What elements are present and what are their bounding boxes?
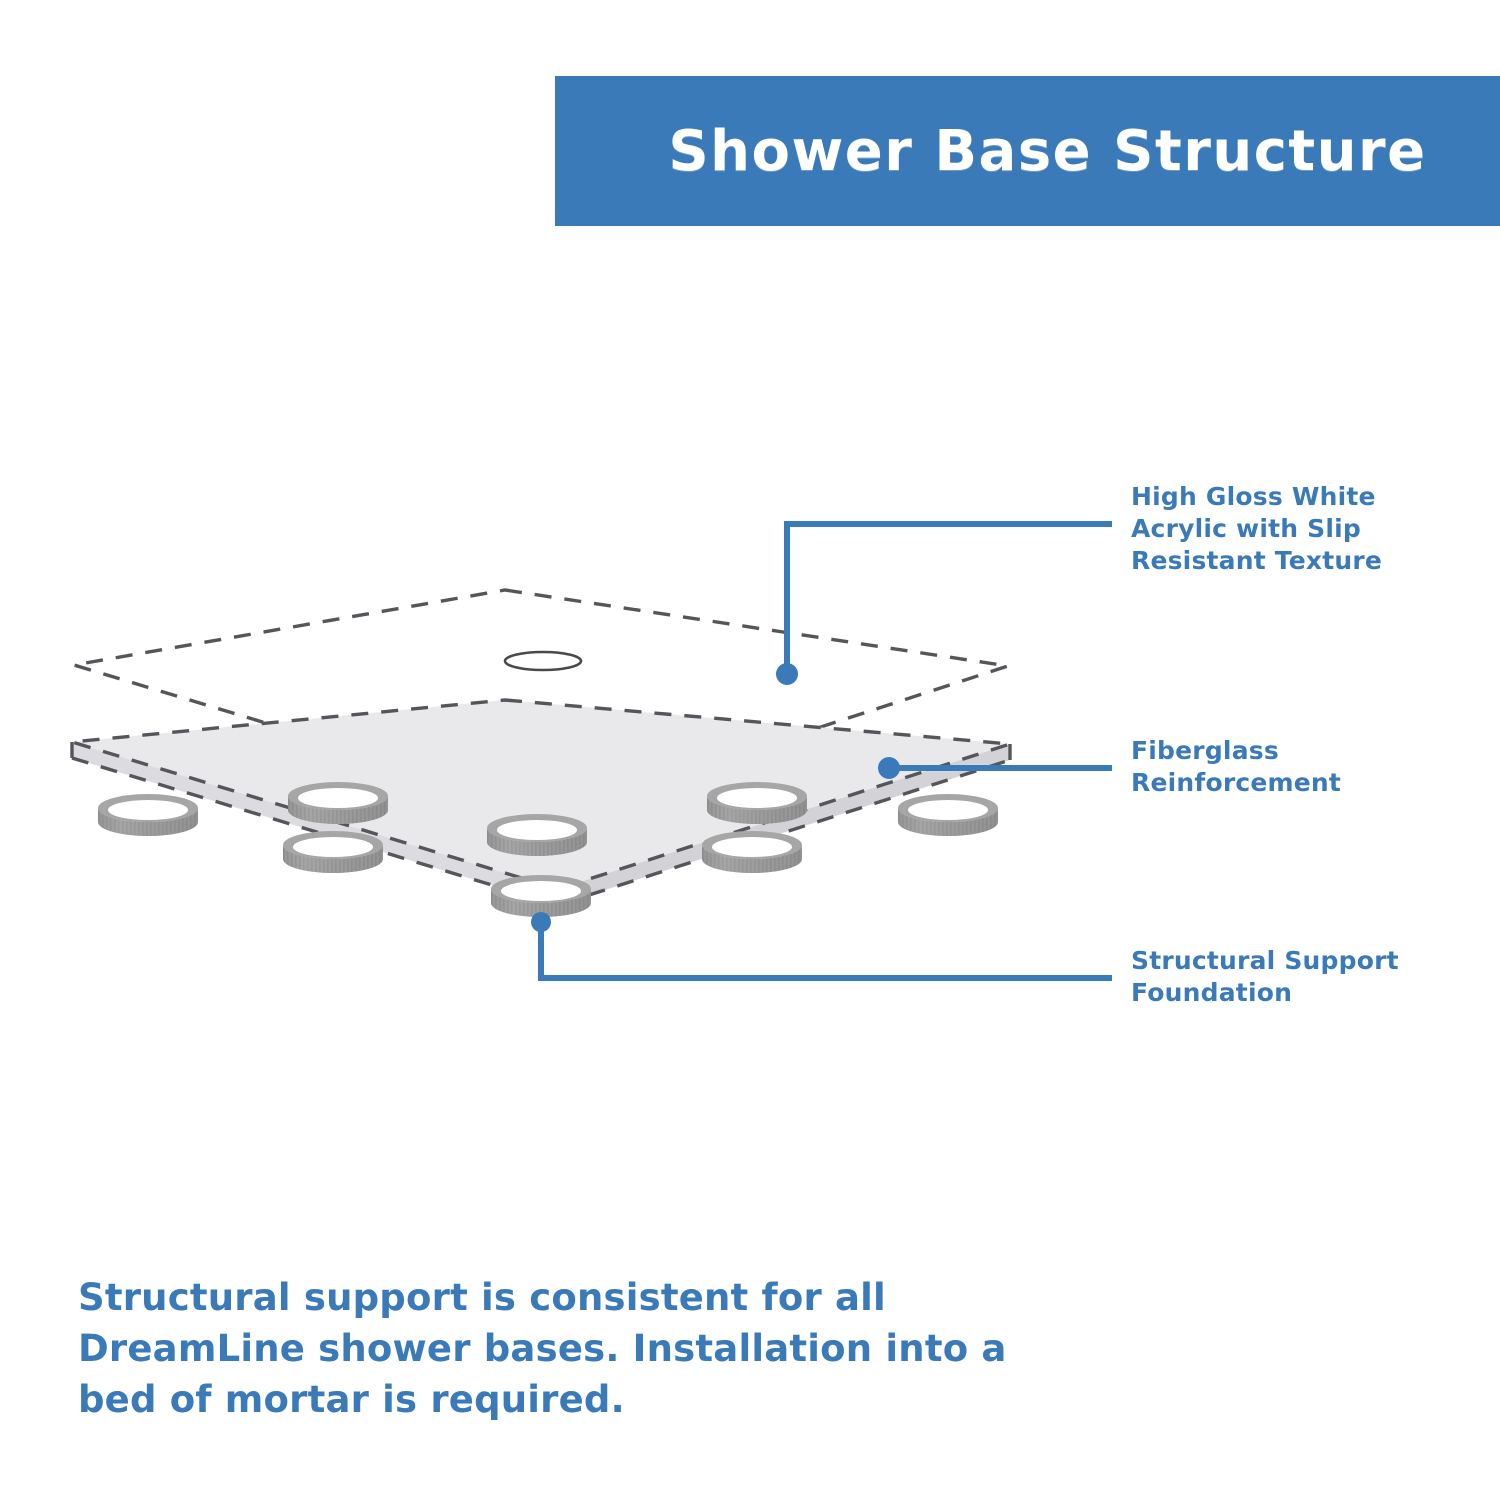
fiberglass-side-right	[558, 744, 1010, 905]
support-foundation-rings	[98, 782, 998, 917]
callout-label-fiberglass: Fiberglass Reinforcement	[1131, 735, 1461, 799]
fiberglass-top-outline	[72, 700, 1010, 889]
callout-label-support: Structural Support Foundation	[1131, 945, 1471, 1009]
page-title: Shower Base Structure	[668, 119, 1426, 184]
acrylic-top-outline	[74, 590, 1008, 812]
leader-line-acrylic	[787, 524, 1112, 673]
leader-line-support	[541, 922, 1112, 978]
leader-dot-acrylic	[776, 663, 798, 685]
support-ring	[288, 782, 388, 824]
fiberglass-side-left	[72, 742, 558, 905]
drain-opening	[505, 652, 581, 670]
header-banner: Shower Base Structure	[555, 76, 1500, 226]
support-ring	[898, 794, 998, 836]
leader-dot-fiberglass	[878, 757, 900, 779]
support-ring	[702, 831, 802, 873]
callout-label-acrylic: High Gloss White Acrylic with Slip Resis…	[1131, 481, 1461, 577]
support-ring	[707, 782, 807, 824]
support-ring	[98, 794, 198, 836]
bottom-caption: Structural support is consistent for all…	[78, 1272, 1058, 1425]
support-ring	[487, 814, 587, 856]
support-ring	[283, 831, 383, 873]
acrylic-layer	[74, 590, 1008, 812]
leader-dot-support	[531, 912, 551, 932]
leader-lines	[531, 524, 1112, 978]
support-ring	[491, 875, 591, 917]
fiberglass-bottom-outline	[72, 758, 1010, 905]
fiberglass-layer	[72, 700, 1010, 905]
fiberglass-top-surface	[72, 700, 1010, 889]
